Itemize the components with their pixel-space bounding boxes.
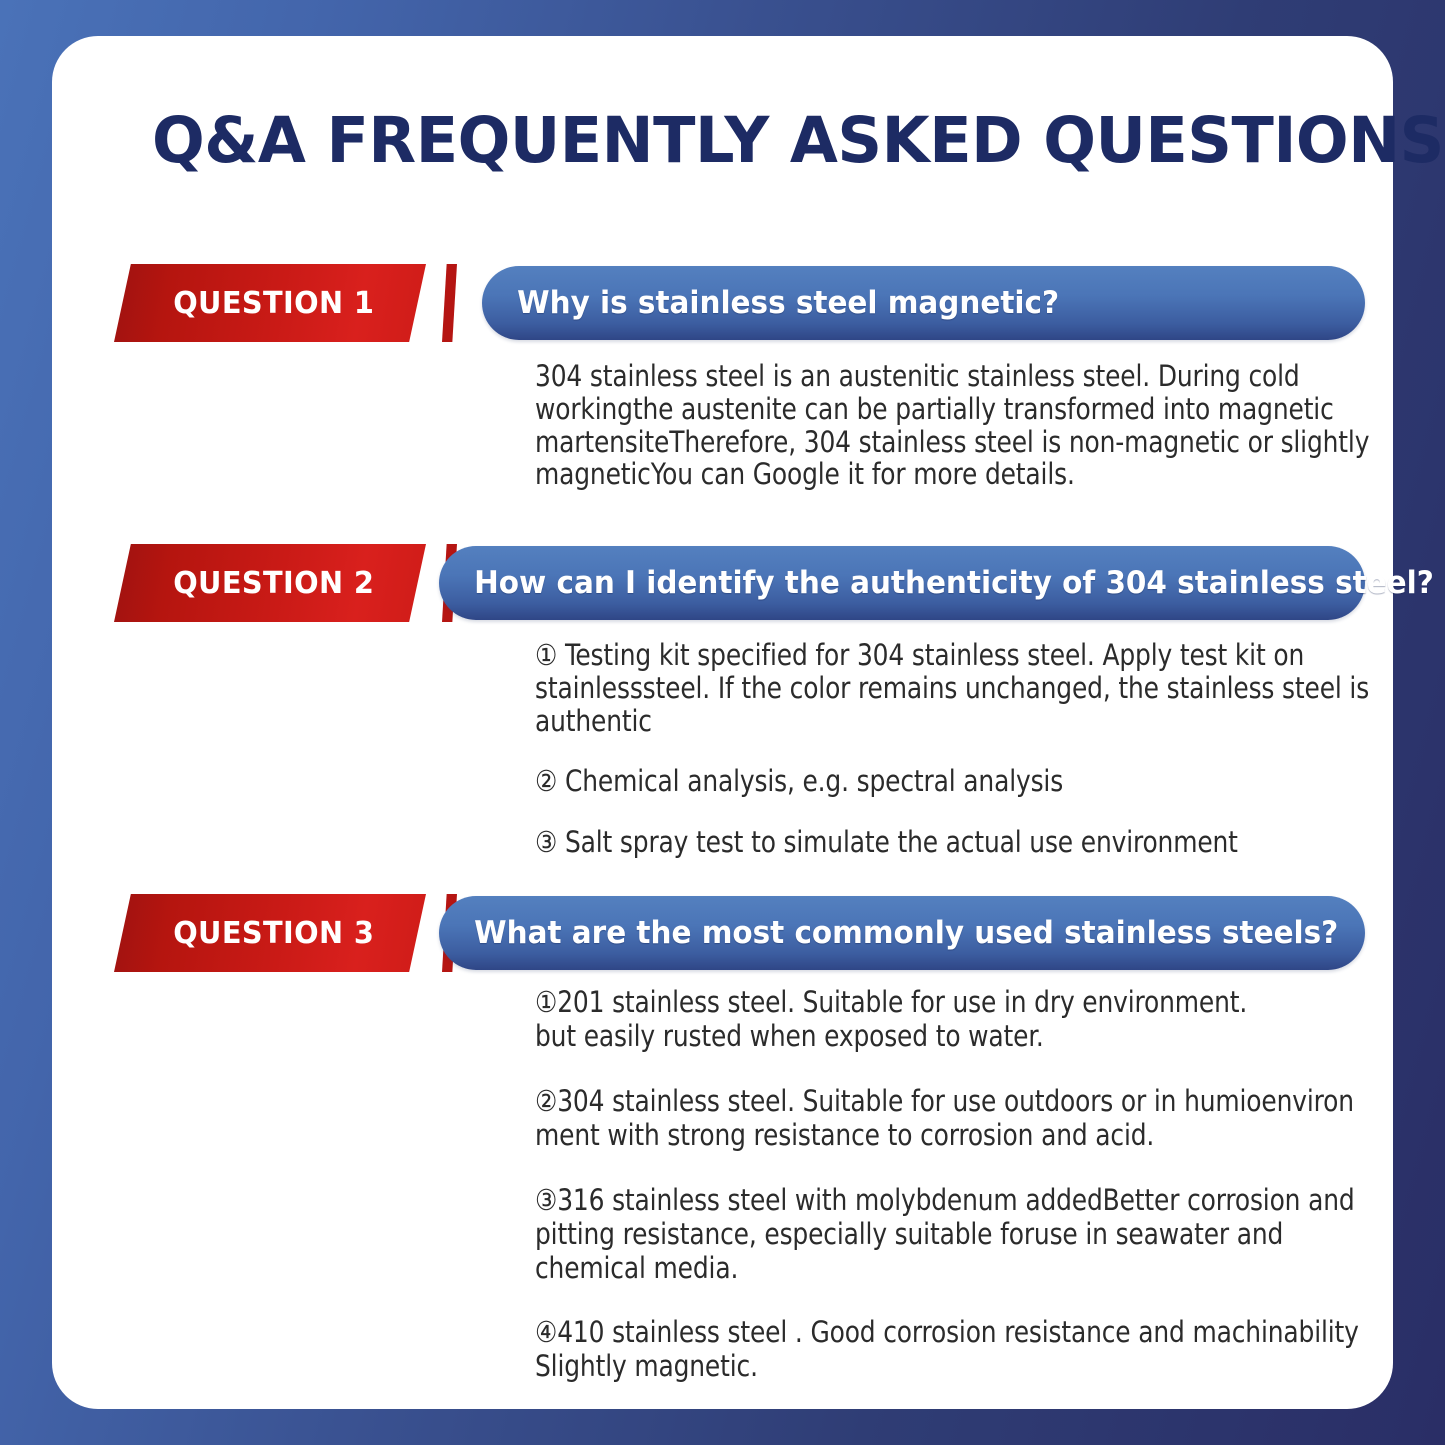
- question-block-3: QUESTION 3 What are the most commonly us…: [52, 894, 1393, 972]
- page-title: Q&A FREQUENTLY ASKED QUESTIONS: [152, 104, 1314, 177]
- question-tag-label: QUESTION 1: [173, 286, 374, 321]
- question-text: Why is stainless steel magnetic?: [482, 285, 1059, 321]
- question-tag-label: QUESTION 3: [173, 916, 374, 951]
- answer-paragraph: ④410 stainless steel . Good corrosion re…: [535, 1316, 1375, 1384]
- answer-body-3: ①201 stainless steel. Suitable for use i…: [535, 986, 1415, 1384]
- question-block-1: QUESTION 1 Why is stainless steel magnet…: [52, 264, 1393, 342]
- answer-paragraph: ③ Salt spray test to simulate the actual…: [535, 826, 1375, 859]
- question-tag-2: QUESTION 2: [114, 544, 426, 622]
- question-header-2: QUESTION 2 How can I identify the authen…: [52, 544, 1393, 622]
- question-pill-3: What are the most commonly used stainles…: [439, 896, 1365, 970]
- question-header-3: QUESTION 3 What are the most commonly us…: [52, 894, 1393, 972]
- question-block-2: QUESTION 2 How can I identify the authen…: [52, 544, 1393, 622]
- question-text: How can I identify the authenticity of 3…: [439, 565, 1434, 601]
- answer-paragraph: ②304 stainless steel. Suitable for use o…: [535, 1085, 1375, 1153]
- question-header-1: QUESTION 1 Why is stainless steel magnet…: [52, 264, 1393, 342]
- answer-paragraph: ① Testing kit specified for 304 stainles…: [535, 639, 1375, 737]
- faq-card: Q&A FREQUENTLY ASKED QUESTIONS QUESTION …: [52, 36, 1393, 1409]
- answer-paragraph: ② Chemical analysis, e.g. spectral analy…: [535, 765, 1375, 798]
- question-tag-3: QUESTION 3: [114, 894, 426, 972]
- question-pill-2: How can I identify the authenticity of 3…: [439, 546, 1365, 620]
- slash-divider-icon: [442, 264, 457, 342]
- question-tag-label: QUESTION 2: [173, 566, 374, 601]
- answer-paragraph: 304 stainless steel is an austenitic sta…: [535, 360, 1375, 491]
- answer-body-1: 304 stainless steel is an austenitic sta…: [535, 360, 1415, 491]
- question-pill-1: Why is stainless steel magnetic?: [482, 266, 1365, 340]
- answer-paragraph: ①201 stainless steel. Suitable for use i…: [535, 986, 1375, 1054]
- answer-paragraph: ③316 stainless steel with molybdenum add…: [535, 1184, 1375, 1286]
- question-tag-1: QUESTION 1: [114, 264, 426, 342]
- question-text: What are the most commonly used stainles…: [439, 915, 1338, 951]
- answer-body-2: ① Testing kit specified for 304 stainles…: [535, 639, 1415, 859]
